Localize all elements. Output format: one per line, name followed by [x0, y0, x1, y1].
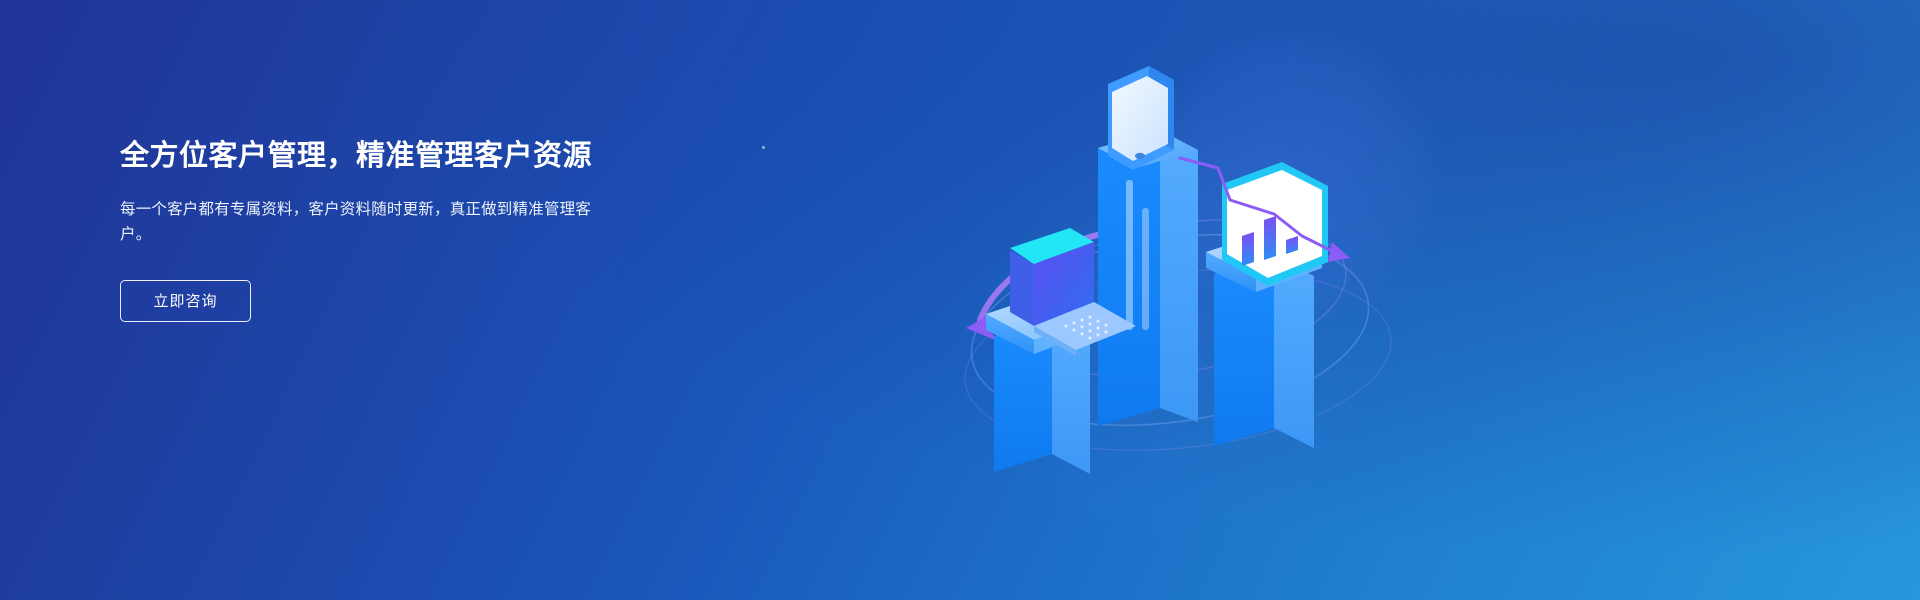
- page-title: 全方位客户管理，精准管理客户资源: [120, 138, 680, 176]
- monitor-bar-chart: [1222, 162, 1328, 286]
- hero-description: 每一个客户都有专属资料，客户资料随时更新，真正做到精准管理客户。: [120, 197, 598, 247]
- hero-copy-block: 全方位客户管理，精准管理客户资源 每一个客户都有专属资料，客户资料随时更新，真正…: [120, 138, 680, 322]
- hero-banner: 全方位客户管理，精准管理客户资源 每一个客户都有专属资料，客户资料随时更新，真正…: [0, 0, 1920, 600]
- tablet-device: [1108, 66, 1174, 170]
- hero-illustration: [930, 30, 1400, 480]
- consult-now-button[interactable]: 立即咨询: [120, 280, 251, 322]
- sparkle-dot: [762, 146, 765, 149]
- pillar-center: [1098, 130, 1198, 426]
